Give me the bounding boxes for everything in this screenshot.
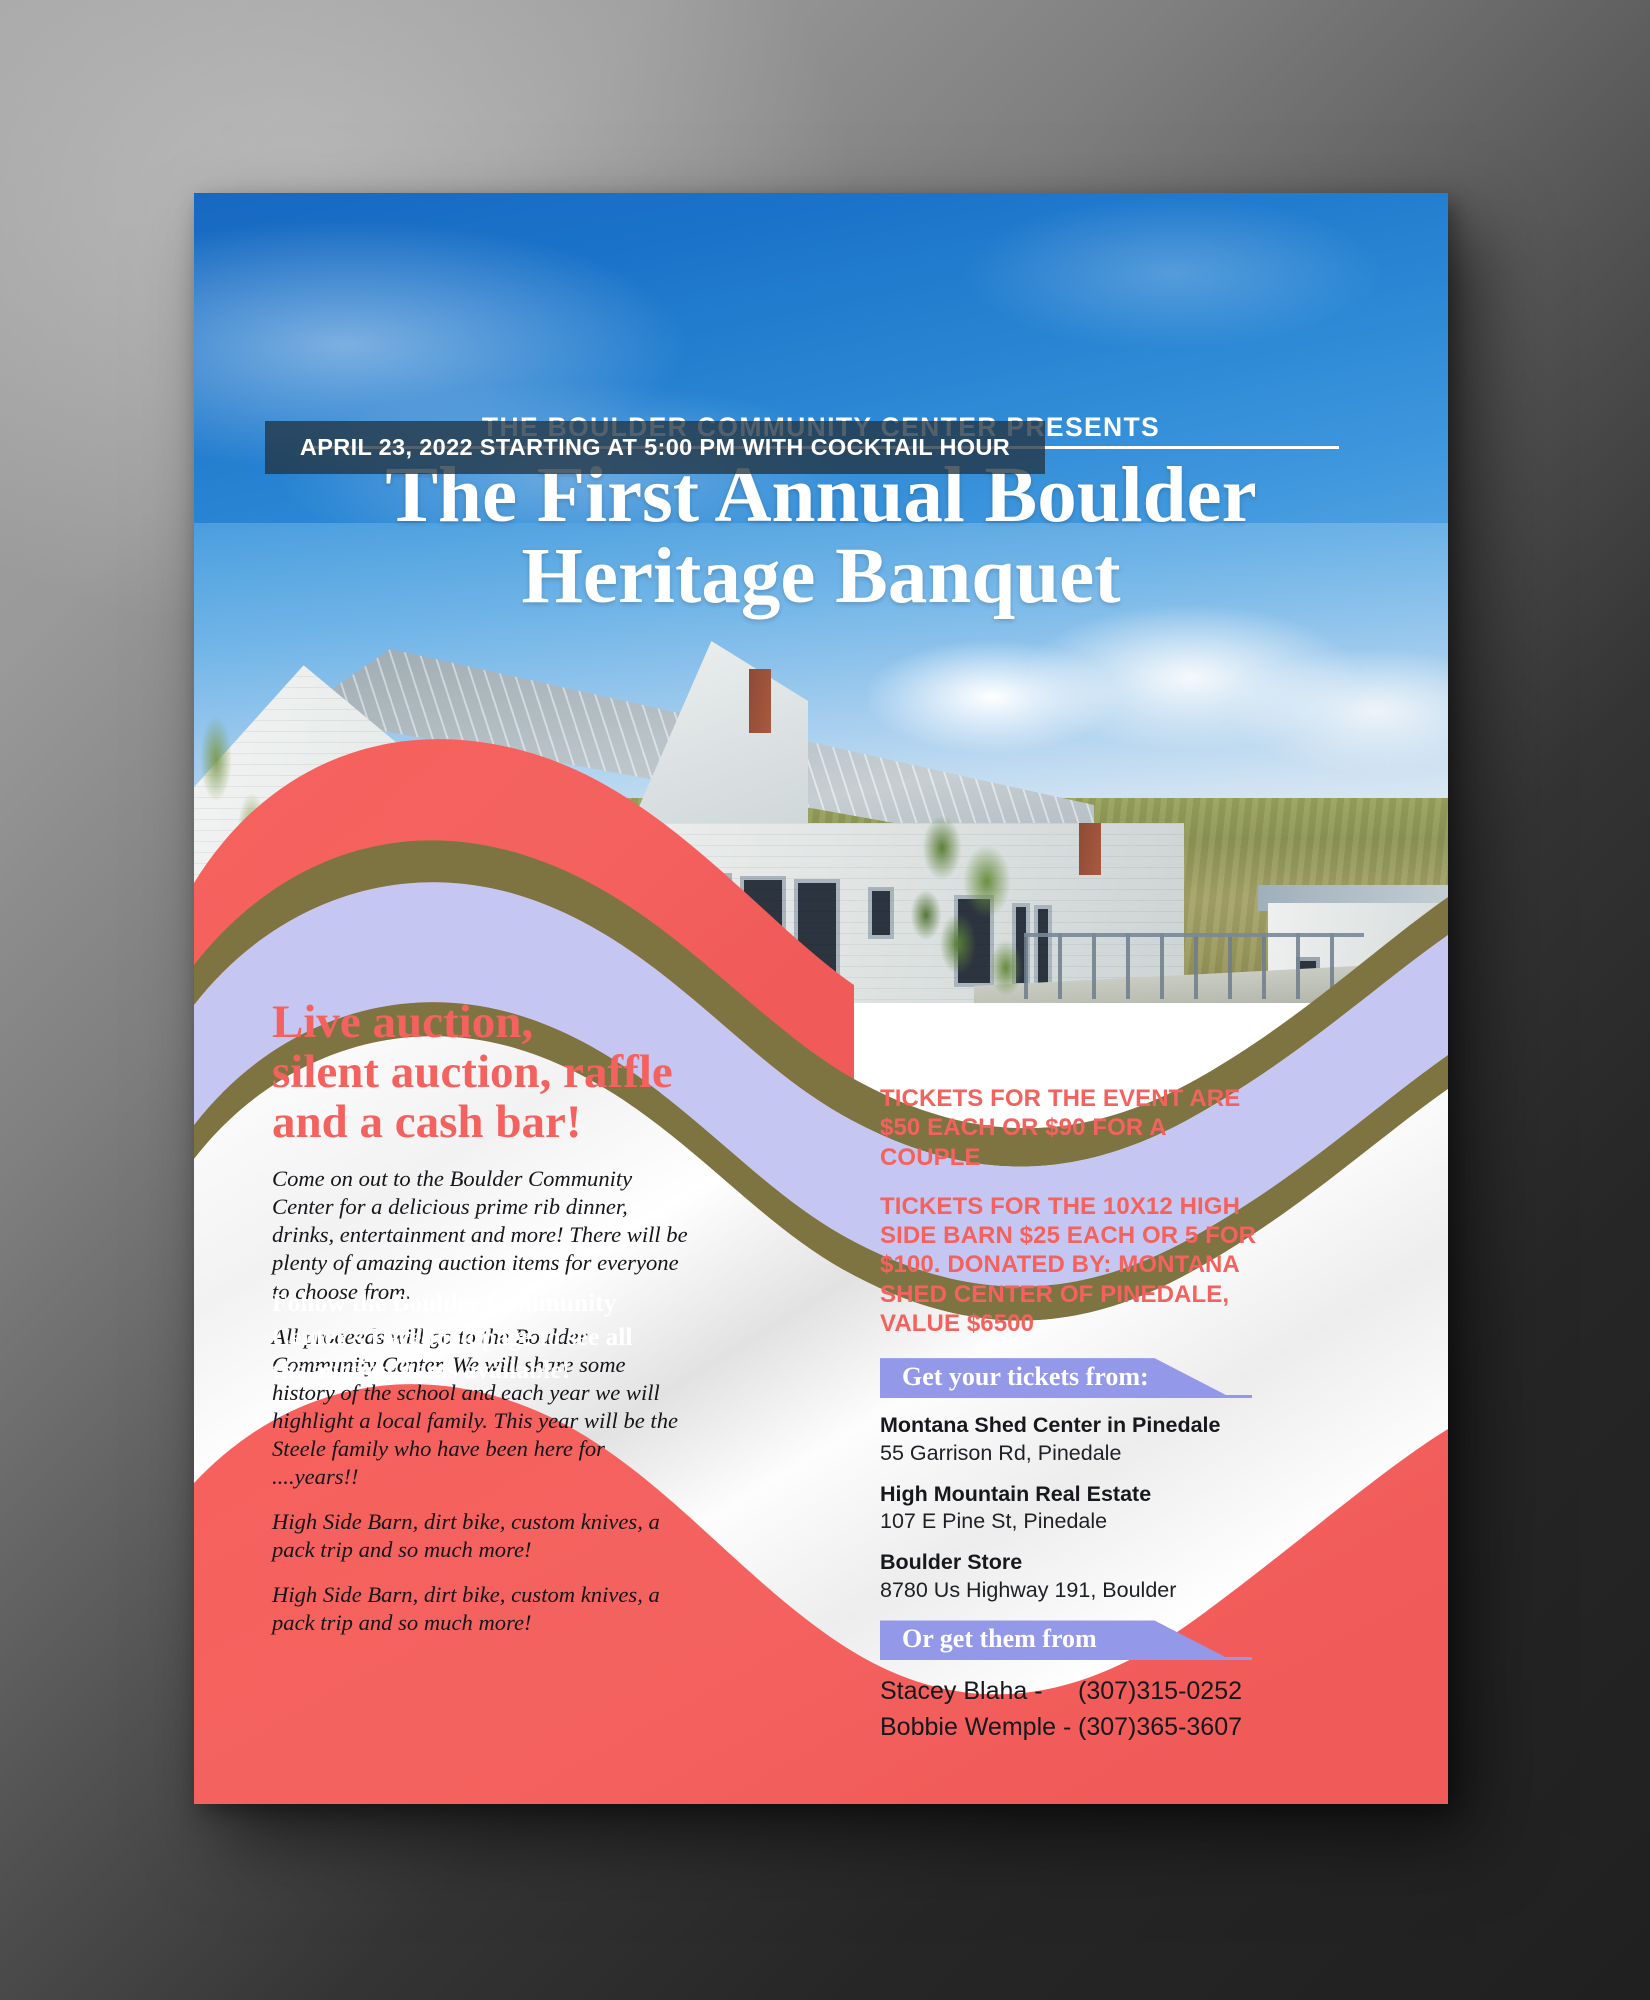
tree: [894, 795, 1054, 1003]
ticket-raffle-block: TICKETS FOR THE 10X12 HIGH SIDE BARN $25…: [880, 1192, 1258, 1338]
event-flyer: THE BOULDER COMMUNITY CENTER PRESENTS Th…: [194, 193, 1448, 1804]
vendor-name: Boulder Store: [880, 1549, 1258, 1577]
chimney: [749, 669, 771, 733]
chimney: [1079, 823, 1101, 875]
vendors-band-shape: [880, 1358, 1232, 1398]
body-paragraph: High Side Barn, dirt bike, custom knives…: [272, 1581, 692, 1637]
contacts-band-shape: [880, 1620, 1232, 1660]
title-line-2: Heritage Banquet: [224, 536, 1418, 617]
headline-line-3: and a cash bar!: [272, 1098, 692, 1148]
headline-line-1: Live auction,: [272, 998, 692, 1048]
tree: [194, 673, 324, 1003]
right-column: TICKETS FOR THE EVENT ARE $50 EACH OR $9…: [880, 1084, 1258, 1745]
vendor-name: High Mountain Real Estate: [880, 1481, 1258, 1509]
window: [686, 873, 732, 973]
contacts-band-tail: [1190, 1657, 1252, 1660]
contact-name: Bobbie Wemple -: [880, 1710, 1078, 1746]
contact-row: Stacey Blaha - (307)315-0252: [880, 1674, 1258, 1710]
window: [868, 887, 894, 939]
vendors-band-tail: [1190, 1395, 1252, 1398]
contacts-band: Or get them from: [880, 1620, 1232, 1660]
contacts-band-label: Or get them from: [902, 1624, 1097, 1654]
page-title: The First Annual Boulder Heritage Banque…: [224, 455, 1418, 618]
date-banner: APRIL 23, 2022 STARTING AT 5:00 PM WITH …: [265, 421, 1045, 474]
contact-phone: (307)315-0252: [1078, 1674, 1242, 1710]
vendor-name: Montana Shed Center in Pinedale: [880, 1412, 1258, 1440]
vendor-item: Montana Shed Center in Pinedale 55 Garri…: [880, 1412, 1258, 1467]
white-content-area: [194, 1036, 1448, 1804]
handrail: [1024, 933, 1364, 999]
vendor-address: 55 Garrison Rd, Pinedale: [880, 1440, 1258, 1468]
vendor-item: Boulder Store 8780 Us Highway 191, Bould…: [880, 1549, 1258, 1604]
red-wave-bottom: [194, 1384, 1448, 1804]
hero-section: THE BOULDER COMMUNITY CENTER PRESENTS Th…: [194, 193, 1448, 1003]
body-paragraph: High Side Barn, dirt bike, custom knives…: [272, 1508, 692, 1564]
headline-line-2: silent auction, raffle: [272, 1048, 692, 1098]
contacts-list: Stacey Blaha - (307)315-0252 Bobbie Wemp…: [880, 1674, 1258, 1745]
body-paragraph: All proceeds will go to the Boulder Comm…: [272, 1323, 692, 1491]
vendor-address: 107 E Pine St, Pinedale: [880, 1508, 1258, 1536]
date-banner-text: APRIL 23, 2022 STARTING AT 5:00 PM WITH …: [300, 434, 1010, 461]
facebook-callout: Follow the Boulder Community Center's Fa…: [272, 1286, 652, 1387]
contact-row: Bobbie Wemple - (307)365-3607: [880, 1710, 1258, 1746]
ticket-price-block: TICKETS FOR THE EVENT ARE $50 EACH OR $9…: [880, 1084, 1258, 1172]
window: [740, 876, 786, 976]
left-column: Live auction, silent auction, raffle and…: [272, 998, 692, 1654]
vendors-band-label: Get your tickets from:: [902, 1362, 1149, 1392]
body-paragraph: Come on out to the Boulder Community Cen…: [272, 1165, 692, 1305]
contact-phone: (307)365-3607: [1078, 1710, 1242, 1746]
vendors-band: Get your tickets from:: [880, 1358, 1232, 1398]
vendor-item: High Mountain Real Estate 107 E Pine St,…: [880, 1481, 1258, 1536]
vendor-address: 8780 Us Highway 191, Boulder: [880, 1577, 1258, 1605]
contact-name: Stacey Blaha -: [880, 1674, 1078, 1710]
olive-wave-accent-2: [194, 1002, 1448, 1320]
window: [794, 879, 840, 979]
auction-headline: Live auction, silent auction, raffle and…: [272, 998, 692, 1147]
